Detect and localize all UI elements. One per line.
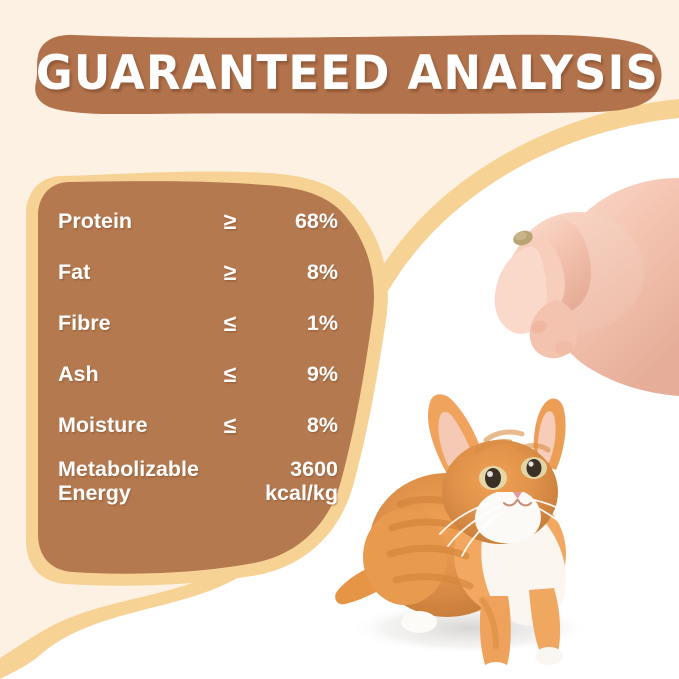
nutrient-operator: ≥	[206, 208, 254, 235]
nutrient-name: Ash	[58, 362, 206, 386]
nutrient-value: 8%	[254, 413, 338, 437]
nutrient-operator: ≤	[206, 361, 254, 388]
nutrient-operator: ≥	[206, 259, 254, 286]
page-title: GUARANTEED ANALYSIS	[11, 32, 679, 114]
nutrient-value: 8%	[254, 260, 338, 284]
table-row: Protein ≥ 68%	[58, 196, 338, 247]
guaranteed-analysis-table: Protein ≥ 68% Fat ≥ 8% Fibre ≤ 1% Ash ≤ …	[58, 196, 338, 519]
nutrient-operator: ≤	[206, 412, 254, 439]
energy-name-line1: Metabolizable	[58, 457, 199, 481]
nutrient-value: 68%	[254, 209, 338, 233]
table-row: Fat ≥ 8%	[58, 247, 338, 298]
energy-name: Metabolizable Energy	[58, 457, 254, 505]
energy-value-line2: kcal/kg	[265, 481, 338, 505]
table-row: Moisture ≤ 8%	[58, 400, 338, 451]
table-row: Fibre ≤ 1%	[58, 298, 338, 349]
table-row: Ash ≤ 9%	[58, 349, 338, 400]
nutrient-name: Protein	[58, 209, 206, 233]
energy-name-line2: Energy	[58, 481, 131, 505]
title-banner: GUARANTEED ANALYSIS	[30, 32, 665, 114]
nutrient-name: Fat	[58, 260, 206, 284]
nutrient-operator: ≤	[206, 310, 254, 337]
nutrient-name: Fibre	[58, 311, 206, 335]
energy-value-line1: 3600	[290, 457, 338, 481]
nutrient-value: 9%	[254, 362, 338, 386]
guaranteed-analysis-poster: GUARANTEED ANALYSIS Protein ≥ 68% Fat ≥ …	[0, 0, 679, 679]
nutrient-name: Moisture	[58, 413, 206, 437]
nutrient-value: 1%	[254, 311, 338, 335]
energy-value: 3600 kcal/kg	[254, 457, 338, 505]
table-row-energy: Metabolizable Energy 3600 kcal/kg	[58, 457, 338, 519]
